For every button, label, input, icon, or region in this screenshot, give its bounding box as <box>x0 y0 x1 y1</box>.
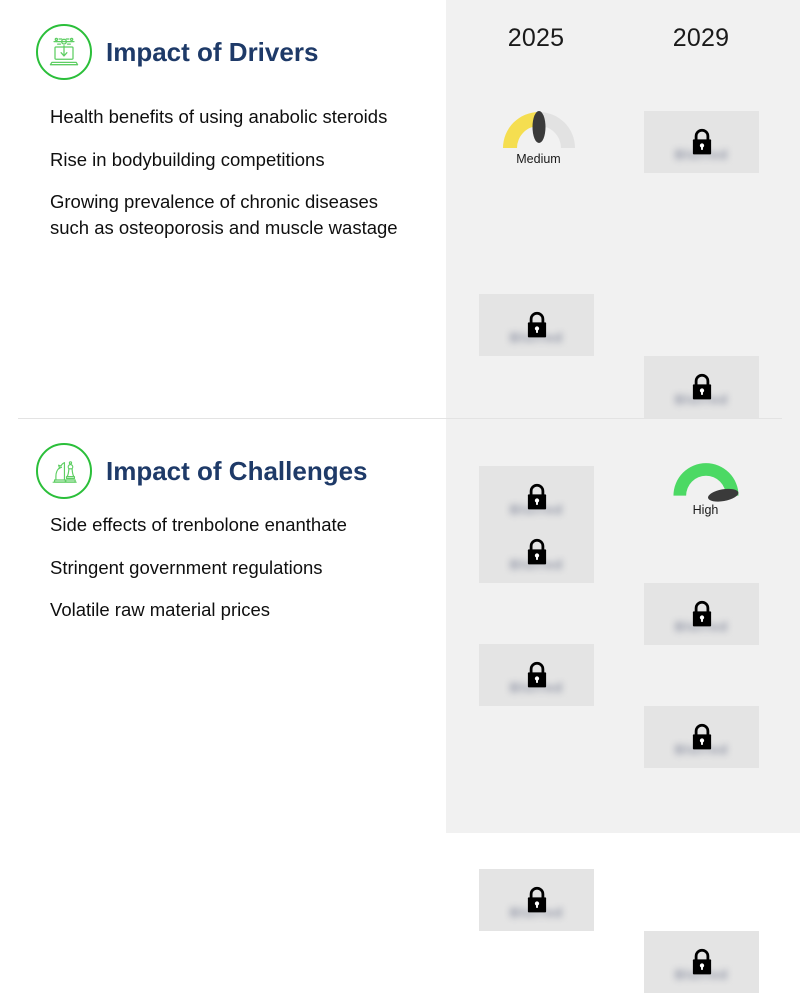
section-title-challenges: Impact of Challenges <box>106 456 368 487</box>
gauge-label-high: High <box>693 503 719 517</box>
gauge-medium-arc <box>497 105 581 151</box>
list-item: Side effects of trenbolone enanthate <box>50 512 410 538</box>
locked-cell-challenges-r2-2029[interactable]: Blurred <box>644 931 759 993</box>
lock-icon <box>689 722 715 752</box>
section-challenges: Impact of Challenges Side effects of tre… <box>0 419 446 729</box>
list-item: Health benefits of using anabolic steroi… <box>50 104 410 130</box>
lock-icon <box>524 660 550 690</box>
gauge-high-arc <box>664 455 748 502</box>
section-header-challenges: Impact of Challenges <box>36 443 368 499</box>
locked-cell-challenges-r0-2025[interactable]: Blurred <box>479 466 594 528</box>
challenges-list: Side effects of trenbolone enanthate Str… <box>50 512 430 640</box>
locked-cell-drivers-r0-2029[interactable]: Blurred <box>644 111 759 173</box>
lock-icon <box>689 372 715 402</box>
section-header-drivers: Impact of Drivers <box>36 24 318 80</box>
lock-icon <box>524 482 550 512</box>
lock-icon <box>524 310 550 340</box>
locked-cell-drivers-r1-2029[interactable]: Blurred <box>644 356 759 418</box>
laptop-download-icon <box>36 24 92 80</box>
section-title-drivers: Impact of Drivers <box>106 37 318 68</box>
locked-cell-drivers-r1-2025[interactable]: Blurred <box>479 294 594 356</box>
impact-matrix-board: 2025 2029 <box>0 0 800 833</box>
lock-icon <box>689 127 715 157</box>
lock-icon <box>689 947 715 977</box>
list-item: Volatile raw material prices <box>50 597 410 623</box>
locked-cell-drivers-r2-2029[interactable]: Blurred <box>644 583 759 645</box>
rating-gauge-drivers-r0-2025[interactable]: Medium <box>481 105 596 167</box>
gauge-label-medium: Medium <box>516 152 560 166</box>
locked-cell-challenges-r1-2029[interactable]: Blurred <box>644 706 759 768</box>
rating-gauge-challenges-r0-2029[interactable]: High <box>648 455 763 517</box>
locked-cell-drivers-r2-2025[interactable]: Blurred <box>479 521 594 583</box>
locked-cell-challenges-r2-2025[interactable]: Blurred <box>479 869 594 931</box>
list-item: Rise in bodybuilding competitions <box>50 147 410 173</box>
lock-icon <box>689 599 715 629</box>
column-header-2025: 2025 <box>476 24 596 53</box>
chess-pieces-icon <box>36 443 92 499</box>
section-drivers: Impact of Drivers Health benefits of usi… <box>0 0 446 310</box>
lock-icon <box>524 885 550 915</box>
drivers-list: Health benefits of using anabolic steroi… <box>50 104 430 257</box>
list-item: Growing prevalence of chronic diseases s… <box>50 189 410 240</box>
locked-cell-challenges-r1-2025[interactable]: Blurred <box>479 644 594 706</box>
list-item: Stringent government regulations <box>50 555 410 581</box>
column-header-2029: 2029 <box>641 24 761 53</box>
lock-icon <box>524 537 550 567</box>
